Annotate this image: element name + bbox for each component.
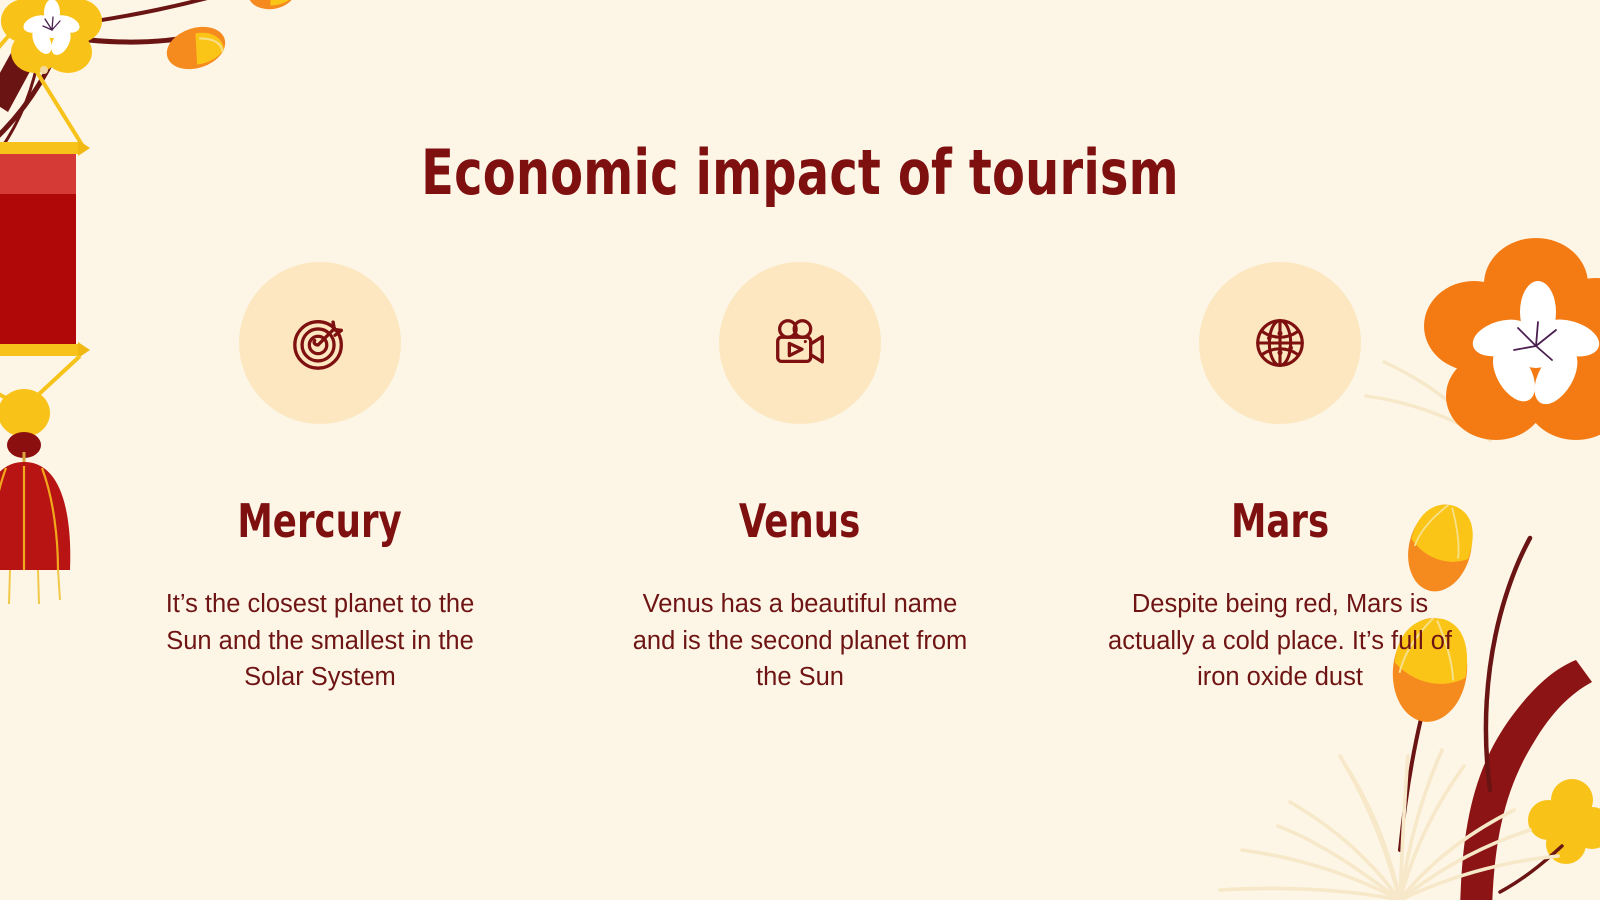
blossom-stamens: [43, 17, 60, 30]
lantern-body-highlight: [0, 154, 76, 194]
column-title-mars: Mars: [1231, 498, 1329, 544]
lantern-bar-bottom: [0, 344, 82, 356]
slide-canvas: Economic impact of tourism Mercury It’s …: [0, 0, 1600, 900]
icon-circle-mercury[interactable]: [239, 262, 401, 424]
column-body-mercury: It’s the closest planet to the Sun and t…: [140, 586, 500, 696]
orange-bud-top: [245, 0, 298, 13]
chinese-lantern: [0, 32, 90, 604]
slide-title: Economic impact of tourism: [112, 139, 1488, 207]
lantern-wire-top-right: [12, 32, 84, 148]
column-title-venus: Venus: [739, 498, 860, 544]
branch-thick: [0, 0, 74, 112]
tassel-tips: [0, 570, 60, 604]
orange-flower-center: [1468, 281, 1600, 411]
orange-bud: [161, 20, 230, 77]
lantern-tassel: [0, 462, 70, 570]
feature-columns: Mercury It’s the closest planet to the S…: [120, 262, 1480, 696]
blossom-dot: [40, 66, 48, 74]
lantern-bead: [0, 389, 50, 437]
column-mars: Mars Despite being red, Mars is actually…: [1080, 262, 1480, 696]
globe-network-icon: [1249, 312, 1311, 374]
blossom-center: [21, 0, 82, 58]
icon-circle-mars[interactable]: [1199, 262, 1361, 424]
lantern-wire-bottom-left: [0, 356, 24, 408]
branch-twig-lower: [0, 34, 64, 140]
branch-twig-upper: [62, 0, 268, 26]
lantern-bar-top: [0, 142, 82, 154]
target-arrow-icon: [289, 312, 351, 374]
column-body-venus: Venus has a beautiful name and is the se…: [630, 586, 970, 696]
lantern-knot: [7, 432, 41, 458]
firework-burst-bottom-right: [1150, 700, 1600, 900]
lantern-wire-bottom-right: [24, 356, 80, 408]
column-body-mars: Despite being red, Mars is actually a co…: [1095, 586, 1465, 696]
plum-blossom-flower: [1, 0, 102, 74]
column-mercury: Mercury It’s the closest planet to the S…: [120, 262, 520, 696]
movie-camera-icon: [769, 312, 831, 374]
flower-stem: [1486, 538, 1530, 790]
column-title-mercury: Mercury: [238, 498, 402, 544]
orange-flower-stamens: [1514, 322, 1556, 360]
yellow-blossom-bottom: [1500, 779, 1600, 892]
lantern-wire-top-left: [0, 32, 12, 92]
lantern-body: [0, 154, 76, 344]
leaf-stem: [1400, 678, 1432, 850]
icon-circle-venus[interactable]: [719, 262, 881, 424]
branch-twig-thin: [0, 50, 40, 156]
blossom-petals: [1, 0, 102, 73]
column-venus: Venus Venus has a beautiful name and is …: [600, 262, 1000, 696]
tassel-strands: [0, 466, 58, 570]
branch-twig-middle: [48, 32, 212, 42]
